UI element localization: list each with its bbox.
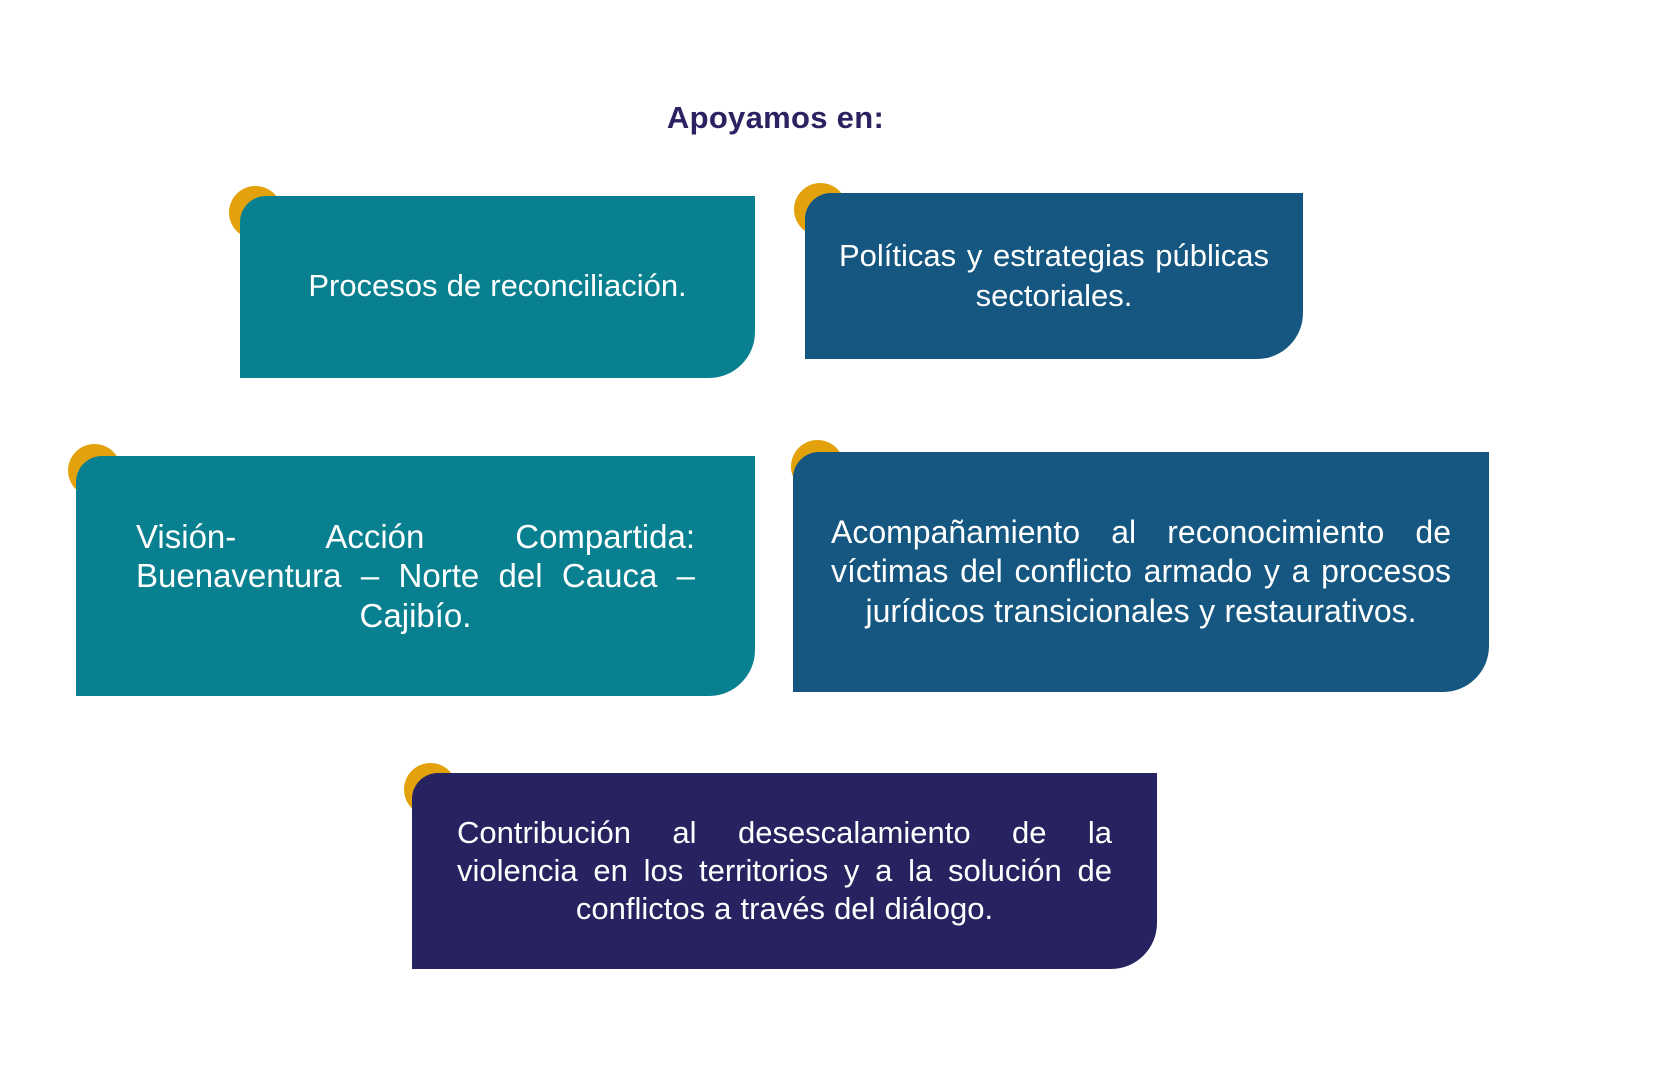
card-contribucion-desescalamiento[interactable]: Contribución al desescalamiento de la vi… — [412, 773, 1157, 969]
page-title: Apoyamos en: — [0, 100, 1657, 136]
card-vision-accion-compartida[interactable]: Visión- Acción Compartida: Buenaventura … — [76, 456, 755, 696]
page-title-text: Apoyamos en: — [667, 100, 884, 136]
card-text: Procesos de reconciliación. — [286, 266, 709, 306]
card-text: Visión- Acción Compartida: Buenaventura … — [136, 517, 695, 636]
slide-canvas: Apoyamos en: Procesos de reconciliación.… — [0, 0, 1657, 1081]
card-text: Acompañamiento al reconocimiento de víct… — [831, 513, 1451, 630]
card-acompanamiento-reconocimiento[interactable]: Acompañamiento al reconocimiento de víct… — [793, 452, 1489, 692]
card-text: Contribución al desescalamiento de la vi… — [457, 814, 1112, 927]
card-politicas-estrategias[interactable]: Políticas y estrategias públicas sectori… — [805, 193, 1303, 359]
card-procesos-reconciliacion[interactable]: Procesos de reconciliación. — [240, 196, 755, 378]
card-text: Políticas y estrategias públicas sectori… — [839, 236, 1269, 315]
